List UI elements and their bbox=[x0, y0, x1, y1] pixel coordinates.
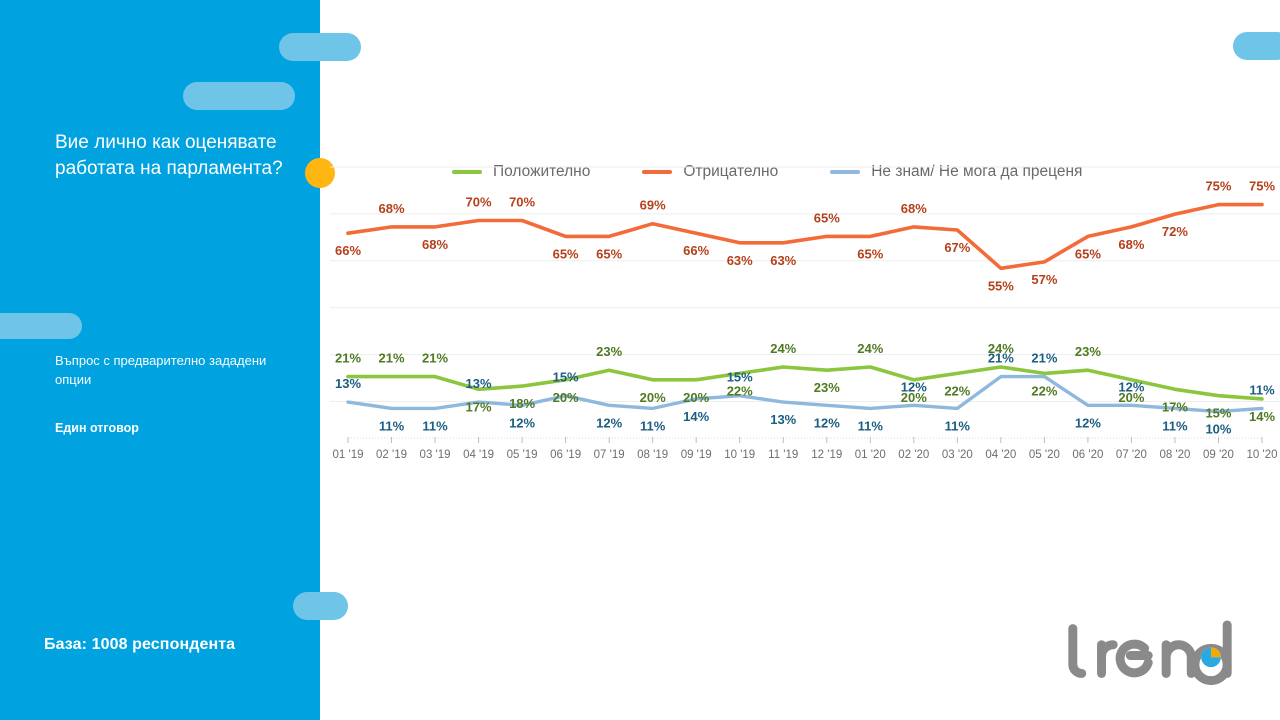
data-label-negative: 63% bbox=[770, 253, 796, 268]
x-axis-label: 08 '20 bbox=[1159, 449, 1190, 461]
data-label-dontknow: 11% bbox=[1162, 418, 1188, 433]
data-label-negative: 55% bbox=[988, 278, 1014, 293]
decor-pill-right-edge bbox=[1233, 32, 1280, 60]
data-label-dontknow: 12% bbox=[509, 415, 535, 430]
data-label-positive: 24% bbox=[857, 341, 883, 356]
x-axis-label: 04 '20 bbox=[985, 449, 1016, 461]
data-label-positive: 22% bbox=[727, 383, 753, 398]
x-axis-label: 02 '20 bbox=[898, 449, 929, 461]
data-label-positive: 23% bbox=[596, 344, 622, 359]
decor-pill-title bbox=[183, 82, 295, 110]
data-label-dontknow: 12% bbox=[814, 415, 840, 430]
slide: Вие лично как оценявате работата на парл… bbox=[0, 0, 1280, 720]
data-label-dontknow: 15% bbox=[553, 370, 579, 385]
x-axis-label: 12 '19 bbox=[811, 449, 842, 461]
data-label-dontknow: 12% bbox=[596, 415, 622, 430]
x-axis-label: 01 '19 bbox=[333, 449, 364, 461]
data-label-dontknow: 11% bbox=[422, 418, 448, 433]
trend-logo-svg bbox=[1060, 616, 1240, 686]
data-label-negative: 75% bbox=[1205, 179, 1231, 194]
data-label-positive: 17% bbox=[1162, 399, 1188, 414]
decor-pill-top-right bbox=[279, 33, 361, 61]
data-label-negative: 57% bbox=[1031, 272, 1057, 287]
question-title: Вие лично как оценявате работата на парл… bbox=[55, 130, 300, 182]
data-label-negative: 65% bbox=[857, 246, 883, 261]
x-axis-label: 05 '19 bbox=[507, 449, 538, 461]
data-label-dontknow: 15% bbox=[727, 370, 753, 385]
data-label-negative: 70% bbox=[509, 194, 535, 209]
x-axis-label: 07 '20 bbox=[1116, 449, 1147, 461]
data-label-negative: 75% bbox=[1249, 179, 1275, 194]
data-label-dontknow: 12% bbox=[1118, 379, 1144, 394]
data-label-dontknow: 21% bbox=[988, 351, 1014, 366]
data-label-dontknow: 11% bbox=[1249, 382, 1275, 397]
answer-type-label: Един отговор bbox=[55, 421, 285, 435]
data-label-positive: 20% bbox=[553, 390, 579, 405]
x-axis-label: 10 '19 bbox=[724, 449, 755, 461]
x-axis-label: 11 '19 bbox=[768, 449, 798, 461]
decor-pill-left bbox=[0, 313, 82, 339]
data-label-dontknow: 13% bbox=[466, 376, 492, 391]
data-label-dontknow: 14% bbox=[683, 409, 709, 424]
data-label-dontknow: 21% bbox=[1031, 351, 1057, 366]
data-label-dontknow: 12% bbox=[1075, 415, 1101, 430]
data-label-negative: 68% bbox=[901, 201, 927, 216]
data-label-dontknow: 11% bbox=[858, 418, 884, 433]
x-axis-ticks bbox=[330, 437, 1280, 445]
data-label-positive: 24% bbox=[770, 341, 796, 356]
x-axis-label: 08 '19 bbox=[637, 449, 668, 461]
data-label-positive: 17% bbox=[466, 399, 492, 414]
data-label-negative: 66% bbox=[683, 243, 709, 258]
data-label-dontknow: 10% bbox=[1205, 422, 1231, 437]
data-label-positive: 20% bbox=[640, 390, 666, 405]
data-label-dontknow: 13% bbox=[335, 376, 361, 391]
line-chart: 66%68%68%70%70%65%65%69%66%63%63%65%65%6… bbox=[330, 100, 1280, 475]
data-label-positive: 21% bbox=[422, 351, 448, 366]
x-axis-labels: 01 '1902 '1903 '1904 '1905 '1906 '1907 '… bbox=[330, 443, 1280, 467]
data-label-dontknow: 11% bbox=[640, 418, 666, 433]
data-label-negative: 68% bbox=[379, 201, 405, 216]
chart-area: 66%68%68%70%70%65%65%69%66%63%63%65%65%6… bbox=[330, 100, 1280, 475]
base-label: База: 1008 респондента bbox=[44, 636, 235, 654]
pie-icon bbox=[1201, 647, 1221, 667]
x-axis-label: 01 '20 bbox=[855, 449, 886, 461]
data-label-negative: 68% bbox=[1118, 237, 1144, 252]
x-axis-label: 06 '20 bbox=[1072, 449, 1103, 461]
data-label-dontknow: 12% bbox=[901, 379, 927, 394]
data-label-negative: 72% bbox=[1162, 224, 1188, 239]
trend-logo bbox=[1060, 616, 1240, 686]
data-label-positive: 21% bbox=[379, 351, 405, 366]
x-axis-label: 03 '20 bbox=[942, 449, 973, 461]
x-axis-label: 02 '19 bbox=[376, 449, 407, 461]
data-label-negative: 67% bbox=[944, 240, 970, 255]
data-label-dontknow: 13% bbox=[770, 412, 796, 427]
data-label-positive: 22% bbox=[1031, 383, 1057, 398]
data-label-dontknow: 11% bbox=[945, 418, 971, 433]
x-axis-label: 09 '20 bbox=[1203, 449, 1234, 461]
data-label-negative: 66% bbox=[335, 243, 361, 258]
x-axis-label: 06 '19 bbox=[550, 449, 581, 461]
data-label-positive: 20% bbox=[683, 390, 709, 405]
data-label-positive: 15% bbox=[1205, 406, 1231, 421]
data-label-dontknow: 11% bbox=[379, 418, 405, 433]
data-label-negative: 70% bbox=[466, 194, 492, 209]
x-axis-label: 03 '19 bbox=[420, 449, 451, 461]
question-note: Въпрос с предварително зададени опции bbox=[55, 352, 285, 390]
data-label-negative: 65% bbox=[814, 210, 840, 225]
data-label-negative: 69% bbox=[640, 198, 666, 213]
decor-pill-bottom bbox=[293, 592, 348, 620]
data-label-negative: 63% bbox=[727, 253, 753, 268]
data-label-positive: 23% bbox=[1075, 344, 1101, 359]
data-label-negative: 65% bbox=[596, 246, 622, 261]
data-label-negative: 68% bbox=[422, 237, 448, 252]
data-label-positive: 18% bbox=[509, 396, 535, 411]
x-axis-label: 07 '19 bbox=[594, 449, 625, 461]
x-axis-label: 09 '19 bbox=[681, 449, 712, 461]
x-axis-label: 05 '20 bbox=[1029, 449, 1060, 461]
data-label-positive: 22% bbox=[944, 383, 970, 398]
x-axis-label: 10 '20 bbox=[1247, 449, 1278, 461]
data-label-positive: 14% bbox=[1249, 409, 1275, 424]
data-label-negative: 65% bbox=[1075, 246, 1101, 261]
x-axis-label: 04 '19 bbox=[463, 449, 494, 461]
data-label-positive: 21% bbox=[335, 351, 361, 366]
data-label-positive: 23% bbox=[814, 380, 840, 395]
data-label-negative: 65% bbox=[553, 246, 579, 261]
